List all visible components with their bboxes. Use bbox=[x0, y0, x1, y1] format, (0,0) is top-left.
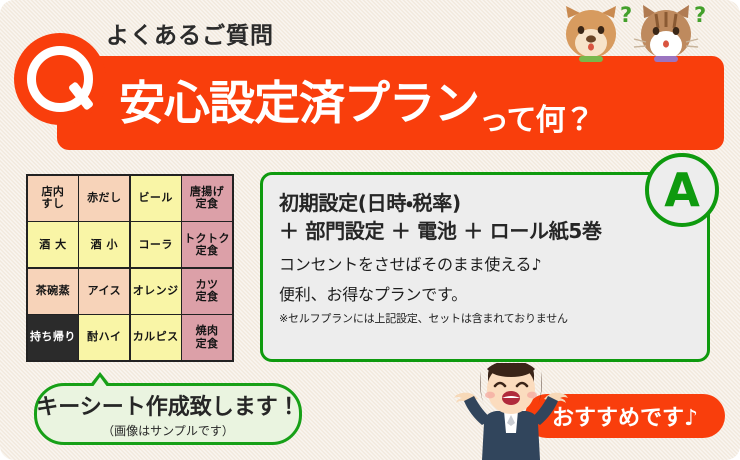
svg-text:?: ? bbox=[620, 3, 632, 27]
key-sheet-cell: カルピス bbox=[131, 315, 181, 360]
key-sheet-cell: トクトク定食 bbox=[182, 222, 232, 267]
answer-note: ※セルフプランには上記設定、セットは含まれておりません bbox=[279, 310, 691, 326]
answer-body-line-2: 便利、お得なプランです。 bbox=[279, 283, 691, 306]
key-sheet-cell: 焼肉定食 bbox=[182, 315, 232, 360]
answer-body-line-1: コンセントをさせばそのまま使える♪ bbox=[279, 253, 691, 276]
key-sheet-cell: ビール bbox=[131, 176, 181, 221]
keysheet-caption-sub: （画像はサンプルです） bbox=[102, 422, 234, 439]
answer-head-line-2: ＋ 部門設定 ＋ 電池 ＋ ロール紙5巻 bbox=[279, 217, 691, 245]
answer-a-icon: A bbox=[645, 153, 719, 227]
title-suffix-text: って何？ bbox=[479, 106, 594, 150]
cat-mascot-icon bbox=[634, 5, 698, 62]
keysheet-caption-bubble: キーシート作成致します！ （画像はサンプルです） bbox=[34, 383, 302, 445]
faq-label: よくあるご質問 bbox=[106, 16, 274, 50]
key-sheet-cell: オレンジ bbox=[131, 269, 181, 314]
pet-mascots-illustration: ? ? bbox=[560, 2, 735, 62]
keysheet-caption-main: キーシート作成致します！ bbox=[36, 389, 300, 421]
key-sheet-cell: アイス bbox=[79, 269, 129, 314]
key-sheet-cell: 唐揚げ定食 bbox=[182, 176, 232, 221]
dog-question-mark-icon: ? bbox=[620, 3, 632, 27]
key-sheet-cell: 赤だし bbox=[79, 176, 129, 221]
q-letter-ring bbox=[27, 46, 93, 112]
key-sheet-cell: 店内すし bbox=[28, 176, 78, 221]
key-sheet-cell: 酒 大 bbox=[28, 222, 78, 267]
question-mark-q-icon bbox=[14, 33, 106, 125]
key-sheet-cell: 酎ハイ bbox=[79, 315, 129, 360]
key-sheet-cell: コーラ bbox=[131, 222, 181, 267]
svg-text:?: ? bbox=[694, 3, 706, 27]
dog-mascot-icon bbox=[566, 6, 616, 62]
cat-question-mark-icon: ? bbox=[694, 3, 706, 27]
key-sheet-cell: 持ち帰り bbox=[28, 315, 78, 360]
title-main-text: 安心設定済プラン bbox=[119, 80, 479, 126]
businessperson-illustration bbox=[448, 363, 574, 460]
title-bar: 安心設定済プラン って何？ bbox=[57, 56, 724, 150]
key-sheet-cell: カツ定食 bbox=[182, 269, 232, 314]
key-sheet-cell: 酒 小 bbox=[79, 222, 129, 267]
faq-banner: よくあるご質問 安心設定済プラン って何？ ? bbox=[0, 0, 740, 460]
key-sheet-grid: 店内すし赤だしビール唐揚げ定食酒 大酒 小コーラトクトク定食茶碗蒸アイスオレンジ… bbox=[26, 174, 234, 362]
answer-panel: A 初期設定(日時・税率) ＋ 部門設定 ＋ 電池 ＋ ロール紙5巻 コンセント… bbox=[260, 172, 710, 362]
key-sheet-cell: 茶碗蒸 bbox=[28, 269, 78, 314]
answer-head-line-1: 初期設定(日時・税率) bbox=[279, 189, 691, 217]
